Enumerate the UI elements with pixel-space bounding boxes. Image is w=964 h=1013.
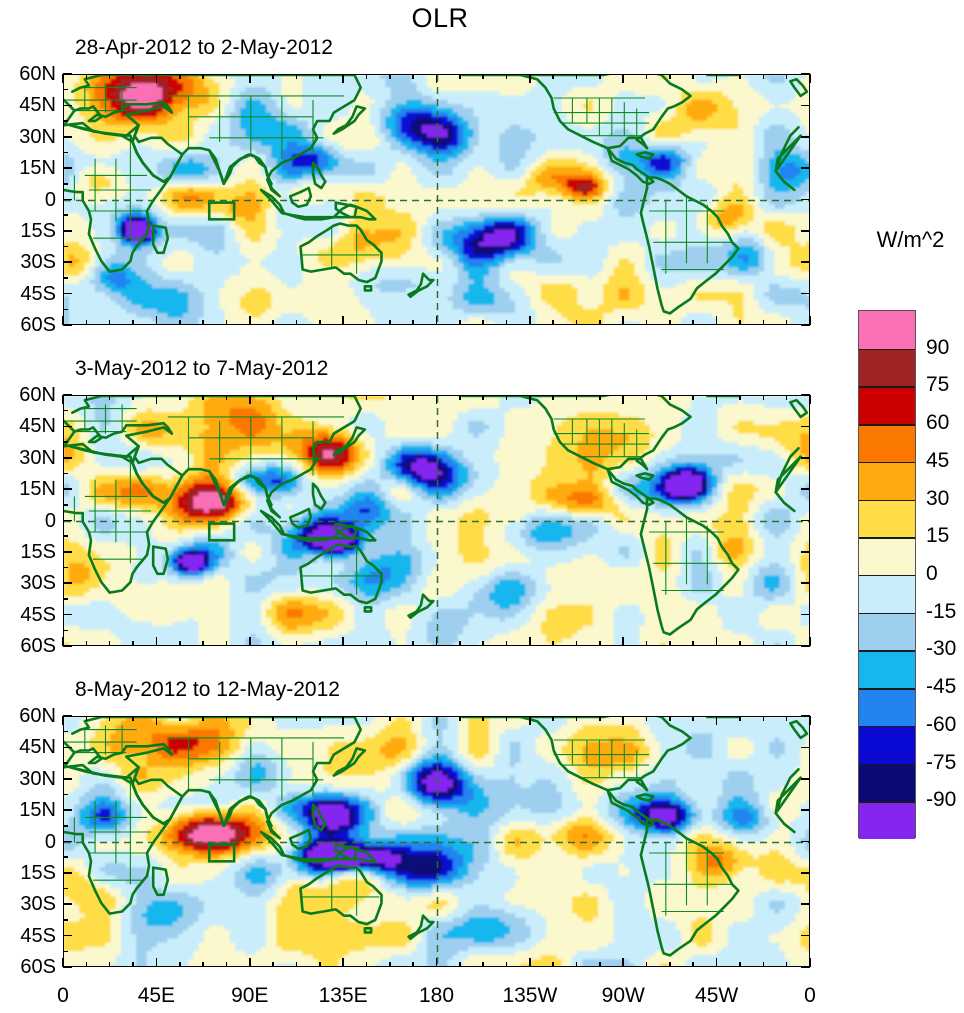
x-minor-tick <box>202 320 204 325</box>
y-major-tick <box>63 645 72 647</box>
x-minor-tick <box>319 320 321 325</box>
x-minor-tick <box>739 395 741 400</box>
y-major-tick <box>63 167 72 169</box>
x-major-tick <box>342 637 344 646</box>
x-minor-tick <box>506 716 508 721</box>
x-minor-tick <box>226 962 228 967</box>
y-tick-label: 15S <box>0 542 56 562</box>
x-tick-label: 0 <box>23 985 103 1007</box>
x-minor-tick <box>132 641 134 646</box>
x-minor-tick <box>763 716 765 721</box>
y-minor-tick <box>63 794 68 795</box>
y-tick-label: 60S <box>0 315 56 335</box>
colorbar-band[interactable] <box>859 801 915 839</box>
colorbar-band[interactable] <box>859 500 915 538</box>
x-minor-tick <box>763 74 765 79</box>
x-minor-tick <box>202 641 204 646</box>
y-minor-tick <box>63 919 68 920</box>
y-minor-tick <box>63 152 68 153</box>
x-minor-tick <box>179 320 181 325</box>
x-minor-tick <box>226 395 228 400</box>
x-minor-tick <box>272 641 274 646</box>
y-major-tick <box>801 136 810 138</box>
x-minor-tick <box>482 716 484 721</box>
y-tick-label: 60N <box>0 64 56 84</box>
x-major-tick <box>716 74 718 83</box>
colorbar-divider <box>859 424 915 425</box>
x-minor-tick <box>179 716 181 721</box>
x-tick-label: 90E <box>210 985 290 1007</box>
x-minor-tick <box>669 74 671 79</box>
x-minor-tick <box>109 74 111 79</box>
x-minor-tick <box>132 962 134 967</box>
x-minor-tick <box>319 641 321 646</box>
x-minor-tick <box>132 395 134 400</box>
x-minor-tick <box>412 74 414 79</box>
colorbar-band[interactable] <box>859 688 915 726</box>
colorbar-divider <box>859 801 915 802</box>
y-minor-tick <box>63 246 68 247</box>
x-major-tick <box>809 716 811 725</box>
x-major-tick <box>436 637 438 646</box>
x-minor-tick <box>763 962 765 967</box>
colorbar-tick-label: -45 <box>926 676 956 697</box>
anomaly-field-panel-2 <box>64 396 810 646</box>
y-major-tick <box>801 426 810 428</box>
colorbar-band[interactable] <box>859 650 915 688</box>
x-tick-label: 135E <box>303 985 383 1007</box>
x-minor-tick <box>202 395 204 400</box>
y-tick-label: 30S <box>0 252 56 272</box>
y-major-tick <box>801 199 810 201</box>
y-tick-label: 60S <box>0 636 56 656</box>
x-minor-tick <box>319 962 321 967</box>
x-minor-tick <box>692 395 694 400</box>
x-minor-tick <box>132 716 134 721</box>
x-minor-tick <box>86 962 88 967</box>
olr-figure: OLR 28-Apr-2012 to 2-May-2012 3-May-2012… <box>0 0 964 1013</box>
x-minor-tick <box>739 716 741 721</box>
x-minor-tick <box>389 395 391 400</box>
x-minor-tick <box>739 74 741 79</box>
x-minor-tick <box>576 74 578 79</box>
x-minor-tick <box>226 320 228 325</box>
x-minor-tick <box>669 320 671 325</box>
x-major-tick <box>342 716 344 725</box>
x-minor-tick <box>739 320 741 325</box>
colorbar-divider <box>859 575 915 576</box>
x-minor-tick <box>412 395 414 400</box>
x-major-tick <box>436 395 438 404</box>
x-major-tick <box>622 395 624 404</box>
colorbar-divider <box>859 688 915 689</box>
x-minor-tick <box>86 74 88 79</box>
colorbar-band[interactable] <box>859 311 915 349</box>
x-minor-tick <box>132 320 134 325</box>
map-panel-1[interactable] <box>63 74 810 325</box>
x-major-tick <box>529 74 531 83</box>
x-major-tick <box>62 316 64 325</box>
x-minor-tick <box>179 74 181 79</box>
x-minor-tick <box>179 641 181 646</box>
x-tick-label: 90W <box>583 985 663 1007</box>
colorbar-divider <box>859 726 915 727</box>
x-minor-tick <box>506 74 508 79</box>
y-minor-tick <box>63 567 68 568</box>
x-major-tick <box>529 395 531 404</box>
y-major-tick <box>801 747 810 749</box>
x-minor-tick <box>786 320 788 325</box>
x-major-tick <box>342 958 344 967</box>
x-major-tick <box>529 958 531 967</box>
colorbar-band[interactable] <box>859 386 915 424</box>
x-major-tick <box>529 637 531 646</box>
y-minor-tick <box>63 120 68 121</box>
x-minor-tick <box>646 962 648 967</box>
colorbar-divider <box>859 386 915 387</box>
x-minor-tick <box>763 320 765 325</box>
x-minor-tick <box>599 962 601 967</box>
x-minor-tick <box>482 962 484 967</box>
x-major-tick <box>249 958 251 967</box>
x-minor-tick <box>599 74 601 79</box>
x-minor-tick <box>506 962 508 967</box>
x-minor-tick <box>109 320 111 325</box>
y-minor-tick <box>63 762 68 763</box>
colorbar-tick-label: -90 <box>926 789 956 810</box>
y-major-tick <box>63 230 72 232</box>
x-major-tick <box>249 637 251 646</box>
y-major-tick <box>801 230 810 232</box>
y-minor-tick <box>63 598 68 599</box>
colorbar-tick-label: 60 <box>926 412 949 433</box>
y-tick-label: 30S <box>0 573 56 593</box>
colorbar-band[interactable] <box>859 726 915 764</box>
y-minor-tick <box>63 504 68 505</box>
y-tick-label: 45N <box>0 416 56 436</box>
y-major-tick <box>801 105 810 107</box>
y-tick-label: 0 <box>0 511 56 531</box>
x-major-tick <box>156 74 158 83</box>
x-major-tick <box>436 74 438 83</box>
x-minor-tick <box>366 641 368 646</box>
x-minor-tick <box>763 395 765 400</box>
x-minor-tick <box>576 641 578 646</box>
y-major-tick <box>801 167 810 169</box>
x-major-tick <box>716 637 718 646</box>
x-minor-tick <box>786 395 788 400</box>
x-major-tick <box>62 395 64 404</box>
y-major-tick <box>801 935 810 937</box>
y-tick-label: 45N <box>0 95 56 115</box>
y-major-tick <box>63 520 72 522</box>
x-minor-tick <box>319 395 321 400</box>
y-major-tick <box>801 809 810 811</box>
x-minor-tick <box>179 962 181 967</box>
x-minor-tick <box>506 641 508 646</box>
y-major-tick <box>63 551 72 553</box>
x-minor-tick <box>763 641 765 646</box>
x-minor-tick <box>646 716 648 721</box>
x-minor-tick <box>459 74 461 79</box>
y-minor-tick <box>63 183 68 184</box>
x-minor-tick <box>366 74 368 79</box>
x-minor-tick <box>296 641 298 646</box>
y-tick-label: 30N <box>0 127 56 147</box>
x-minor-tick <box>86 641 88 646</box>
y-minor-tick <box>63 535 68 536</box>
x-minor-tick <box>459 395 461 400</box>
x-minor-tick <box>692 962 694 967</box>
x-minor-tick <box>786 641 788 646</box>
x-minor-tick <box>296 320 298 325</box>
map-panel-3[interactable] <box>63 716 810 967</box>
x-minor-tick <box>552 641 554 646</box>
x-major-tick <box>809 958 811 967</box>
x-tick-label: 45W <box>677 985 757 1007</box>
colorbar-tick-label: -75 <box>926 752 956 773</box>
x-major-tick <box>716 716 718 725</box>
x-major-tick <box>342 395 344 404</box>
panel-2-title: 3-May-2012 to 7-May-2012 <box>75 357 328 381</box>
x-major-tick <box>249 716 251 725</box>
x-minor-tick <box>669 962 671 967</box>
x-minor-tick <box>669 641 671 646</box>
anomaly-field-panel-3 <box>64 717 810 967</box>
x-minor-tick <box>109 962 111 967</box>
y-major-tick <box>63 809 72 811</box>
y-minor-tick <box>63 825 68 826</box>
y-tick-label: 45S <box>0 605 56 625</box>
x-minor-tick <box>226 641 228 646</box>
y-tick-label: 15N <box>0 479 56 499</box>
y-minor-tick <box>63 277 68 278</box>
y-major-tick <box>63 903 72 905</box>
x-major-tick <box>809 316 811 325</box>
y-minor-tick <box>63 214 68 215</box>
y-major-tick <box>801 614 810 616</box>
x-major-tick <box>249 316 251 325</box>
colorbar-tick-label: 90 <box>926 337 949 358</box>
y-minor-tick <box>63 89 68 90</box>
y-major-tick <box>63 841 72 843</box>
y-tick-label: 60N <box>0 706 56 726</box>
colorbar-divider <box>859 462 915 463</box>
x-minor-tick <box>692 74 694 79</box>
colorbar-tick-label: 15 <box>926 525 949 546</box>
x-major-tick <box>809 637 811 646</box>
x-major-tick <box>716 958 718 967</box>
y-tick-label: 60N <box>0 385 56 405</box>
y-major-tick <box>63 73 72 75</box>
x-major-tick <box>156 316 158 325</box>
x-minor-tick <box>506 320 508 325</box>
colorbar-tick-label: 30 <box>926 488 949 509</box>
x-major-tick <box>156 716 158 725</box>
map-panel-2[interactable] <box>63 395 810 646</box>
x-minor-tick <box>366 962 368 967</box>
colorbar-tick-label: 75 <box>926 374 949 395</box>
x-minor-tick <box>202 716 204 721</box>
x-minor-tick <box>459 716 461 721</box>
colorbar-unit-label: W/m^2 <box>857 228 964 252</box>
x-minor-tick <box>669 395 671 400</box>
x-major-tick <box>436 316 438 325</box>
x-minor-tick <box>366 716 368 721</box>
colorbar-band[interactable] <box>859 462 915 500</box>
y-major-tick <box>801 488 810 490</box>
x-major-tick <box>622 316 624 325</box>
x-minor-tick <box>739 962 741 967</box>
x-major-tick <box>62 637 64 646</box>
y-tick-label: 45S <box>0 284 56 304</box>
x-minor-tick <box>272 395 274 400</box>
x-minor-tick <box>482 395 484 400</box>
y-minor-tick <box>63 410 68 411</box>
page-title: OLR <box>0 2 880 34</box>
x-major-tick <box>156 958 158 967</box>
x-major-tick <box>622 958 624 967</box>
colorbar-tick-label: 45 <box>926 450 949 471</box>
colorbar-band[interactable] <box>859 349 915 387</box>
colorbar-band[interactable] <box>859 537 915 575</box>
y-minor-tick <box>63 630 68 631</box>
x-minor-tick <box>669 716 671 721</box>
y-tick-label: 15S <box>0 221 56 241</box>
x-minor-tick <box>272 320 274 325</box>
x-minor-tick <box>296 716 298 721</box>
x-major-tick <box>716 316 718 325</box>
colorbar-divider <box>859 764 915 765</box>
x-minor-tick <box>272 716 274 721</box>
y-major-tick <box>63 872 72 874</box>
y-major-tick <box>63 136 72 138</box>
y-major-tick <box>63 199 72 201</box>
colorbar-band[interactable] <box>859 613 915 651</box>
y-major-tick <box>63 778 72 780</box>
y-tick-label: 30S <box>0 894 56 914</box>
x-tick-label: 135W <box>490 985 570 1007</box>
x-minor-tick <box>786 74 788 79</box>
x-minor-tick <box>202 74 204 79</box>
x-minor-tick <box>86 716 88 721</box>
x-minor-tick <box>272 74 274 79</box>
x-minor-tick <box>86 320 88 325</box>
x-minor-tick <box>552 395 554 400</box>
colorbar-divider <box>859 349 915 350</box>
x-tick-label: 180 <box>397 985 477 1007</box>
x-minor-tick <box>482 641 484 646</box>
y-major-tick <box>63 457 72 459</box>
x-minor-tick <box>482 74 484 79</box>
x-minor-tick <box>459 641 461 646</box>
colorbar-tick-label: -15 <box>926 601 956 622</box>
y-major-tick <box>801 457 810 459</box>
y-tick-label: 15S <box>0 863 56 883</box>
x-minor-tick <box>389 716 391 721</box>
y-minor-tick <box>63 473 68 474</box>
y-tick-label: 0 <box>0 832 56 852</box>
x-major-tick <box>62 716 64 725</box>
x-minor-tick <box>412 641 414 646</box>
colorbar-band[interactable] <box>859 575 915 613</box>
y-major-tick <box>63 426 72 428</box>
x-minor-tick <box>739 641 741 646</box>
x-minor-tick <box>692 641 694 646</box>
x-minor-tick <box>786 962 788 967</box>
y-major-tick <box>801 520 810 522</box>
x-minor-tick <box>692 320 694 325</box>
x-minor-tick <box>389 641 391 646</box>
y-major-tick <box>63 935 72 937</box>
y-major-tick <box>63 261 72 263</box>
colorbar-tick-label: 0 <box>926 563 938 584</box>
y-tick-label: 45N <box>0 737 56 757</box>
colorbar-band[interactable] <box>859 424 915 462</box>
x-major-tick <box>62 74 64 83</box>
x-minor-tick <box>132 74 134 79</box>
x-minor-tick <box>459 962 461 967</box>
x-minor-tick <box>552 320 554 325</box>
colorbar-tick-label: -60 <box>926 714 956 735</box>
y-major-tick <box>801 261 810 263</box>
x-major-tick <box>622 74 624 83</box>
y-major-tick <box>801 778 810 780</box>
panel-3-title: 8-May-2012 to 12-May-2012 <box>75 678 340 702</box>
panel-1-title: 28-Apr-2012 to 2-May-2012 <box>75 36 333 60</box>
y-major-tick <box>63 614 72 616</box>
y-major-tick <box>801 551 810 553</box>
x-minor-tick <box>202 962 204 967</box>
y-major-tick <box>801 872 810 874</box>
x-minor-tick <box>576 716 578 721</box>
y-minor-tick <box>63 731 68 732</box>
x-major-tick <box>716 395 718 404</box>
x-minor-tick <box>459 320 461 325</box>
x-minor-tick <box>646 320 648 325</box>
x-minor-tick <box>389 320 391 325</box>
x-minor-tick <box>319 716 321 721</box>
y-major-tick <box>801 293 810 295</box>
colorbar-band[interactable] <box>859 764 915 802</box>
y-tick-label: 0 <box>0 190 56 210</box>
y-minor-tick <box>63 888 68 889</box>
x-minor-tick <box>599 320 601 325</box>
y-major-tick <box>63 966 72 968</box>
x-minor-tick <box>646 395 648 400</box>
x-minor-tick <box>412 962 414 967</box>
x-minor-tick <box>482 320 484 325</box>
colorbar-tick-label: -30 <box>926 638 956 659</box>
x-minor-tick <box>226 74 228 79</box>
colorbar-divider <box>859 650 915 651</box>
x-minor-tick <box>786 716 788 721</box>
x-minor-tick <box>389 74 391 79</box>
x-minor-tick <box>552 716 554 721</box>
x-tick-label: 45E <box>116 985 196 1007</box>
y-major-tick <box>63 488 72 490</box>
x-minor-tick <box>296 74 298 79</box>
x-minor-tick <box>272 962 274 967</box>
x-minor-tick <box>576 320 578 325</box>
y-tick-label: 30N <box>0 448 56 468</box>
x-major-tick <box>436 716 438 725</box>
x-major-tick <box>809 74 811 83</box>
x-major-tick <box>436 958 438 967</box>
x-major-tick <box>622 637 624 646</box>
x-minor-tick <box>179 395 181 400</box>
colorbar[interactable] <box>858 310 916 838</box>
